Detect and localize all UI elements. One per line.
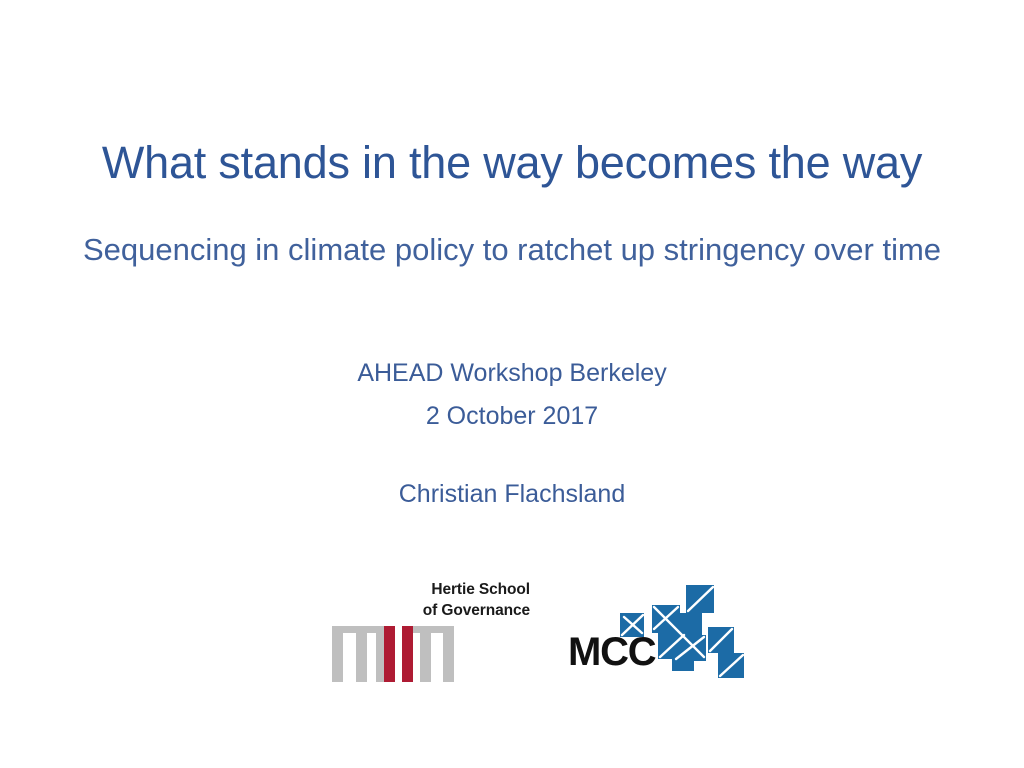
hertie-colonnade-icon [332,626,454,687]
event-name: AHEAD Workshop Berkeley [0,352,1024,395]
title-block: What stands in the way becomes the way S… [62,138,962,268]
logo-row: Hertie School of Governance [0,578,1024,698]
event-date: 2 October 2017 [0,395,1024,438]
hertie-wordmark-line-2: of Governance [423,601,530,622]
hertie-school-wordmark: Hertie School of Governance [423,580,530,622]
author-name: Christian Flachsland [0,480,1024,509]
page-subtitle: Sequencing in climate policy to ratchet … [62,232,962,268]
hertie-school-logo: Hertie School of Governance [330,578,530,683]
mcc-logo: MCC [566,583,756,683]
event-info-block: AHEAD Workshop Berkeley 2 October 2017 [0,352,1024,438]
presentation-slide: What stands in the way becomes the way S… [0,0,1024,768]
page-title: What stands in the way becomes the way [62,138,962,188]
mcc-tiles-icon [614,583,749,683]
hertie-wordmark-line-1: Hertie School [423,580,530,601]
